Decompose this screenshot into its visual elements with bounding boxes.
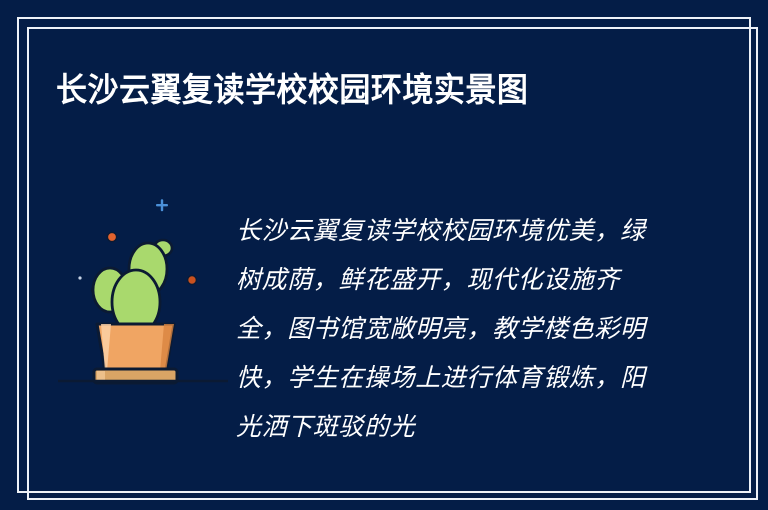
flower-pot [97,324,174,371]
dot-orange-right [188,276,197,285]
dot-orange-upper [107,232,116,241]
speck-white [78,276,81,279]
poster-canvas: 长沙云翼复读学校校园环境实景图 [0,0,768,510]
body-paragraph: 长沙云翼复读学校校园环境优美，绿树成荫，鲜花盛开，现代化设施齐全，图书馆宽敞明亮… [236,206,661,451]
content-row: 长沙云翼复读学校校园环境优美，绿树成荫，鲜花盛开，现代化设施齐全，图书馆宽敞明亮… [56,190,712,451]
sparkle-plus-icon [156,199,168,211]
page-title: 长沙云翼复读学校校园环境实景图 [56,62,629,118]
potted-cactus-illustration [56,190,231,385]
title-block: 长沙云翼复读学校校园环境实景图 [56,62,666,118]
